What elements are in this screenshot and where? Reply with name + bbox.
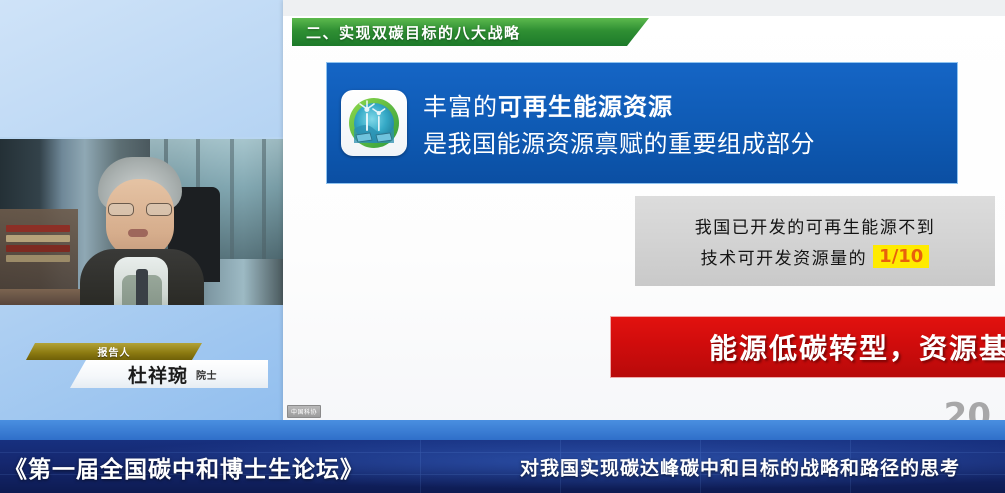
headline-line-1-thin: 丰富的 bbox=[423, 93, 498, 121]
presenter-glasses bbox=[106, 203, 174, 216]
presenter-title: 院士 bbox=[196, 367, 217, 382]
fact-gray-box: 我国已开发的可再生能源不到 技术可开发资源量的 1/10 bbox=[635, 196, 995, 286]
headline-line-1-bold: 可再生能源资源 bbox=[498, 93, 673, 121]
section-title-text: 二、实现双碳目标的八大战略 bbox=[292, 22, 521, 43]
nameplate-role-label: 报告人 bbox=[98, 344, 131, 359]
headline-line-1: 丰富的可再生能源资源 bbox=[423, 87, 815, 122]
conclusion-text: 能源低碳转型，资源基础是丰厚的 bbox=[709, 327, 1005, 367]
event-title: 《第一届全国碳中和博士生论坛》 bbox=[4, 450, 364, 484]
presenter-face bbox=[106, 179, 174, 257]
presenter-nameplate: 报告人 杜祥琬 院士 bbox=[18, 343, 268, 391]
fact-line-1: 我国已开发的可再生能源不到 bbox=[695, 213, 936, 238]
slide-watermark: 中国科协 bbox=[287, 405, 321, 418]
presenter-video-feed[interactable] bbox=[0, 137, 283, 305]
presenter-figure bbox=[80, 157, 204, 305]
fact-line-2-prefix: 技术可开发资源量的 bbox=[701, 244, 868, 269]
fact-highlight-value: 1/10 bbox=[873, 245, 929, 268]
presenter-name: 杜祥琬 bbox=[128, 361, 188, 388]
video-books bbox=[6, 225, 70, 267]
section-banner-tail bbox=[635, 18, 935, 46]
presentation-slide: 二、实现双碳目标的八大战略 bbox=[283, 0, 1005, 424]
broadcast-frame: 报告人 杜祥琬 院士 二、实现双碳目标的八大战略 bbox=[0, 0, 1005, 493]
presenter-mouth bbox=[128, 229, 148, 237]
section-title-banner: 二、实现双碳目标的八大战略 bbox=[292, 18, 649, 46]
talk-title: 对我国实现碳达峰碳中和目标的战略和路径的思考 bbox=[520, 453, 960, 480]
nameplate-name-bar: 杜祥琬 院士 bbox=[70, 360, 268, 388]
fact-line-2: 技术可开发资源量的 1/10 bbox=[701, 244, 930, 269]
nameplate-role-bar: 报告人 bbox=[26, 343, 202, 360]
headline-text-block: 丰富的可再生能源资源 是我国能源资源禀赋的重要组成部分 bbox=[423, 87, 815, 159]
slide-top-strip bbox=[283, 0, 1005, 16]
headline-blue-box: 丰富的可再生能源资源 是我国能源资源禀赋的重要组成部分 bbox=[326, 62, 958, 184]
headline-line-2: 是我国能源资源禀赋的重要组成部分 bbox=[423, 124, 815, 159]
bottom-title-bar: 《第一届全国碳中和博士生论坛》 对我国实现碳达峰碳中和目标的战略和路径的思考 bbox=[0, 440, 1005, 493]
lower-blue-strip bbox=[0, 420, 1005, 440]
renewable-energy-icon bbox=[341, 90, 407, 156]
presenter-tie bbox=[136, 269, 148, 305]
conclusion-red-banner: 能源低碳转型，资源基础是丰厚的 bbox=[610, 316, 1005, 378]
